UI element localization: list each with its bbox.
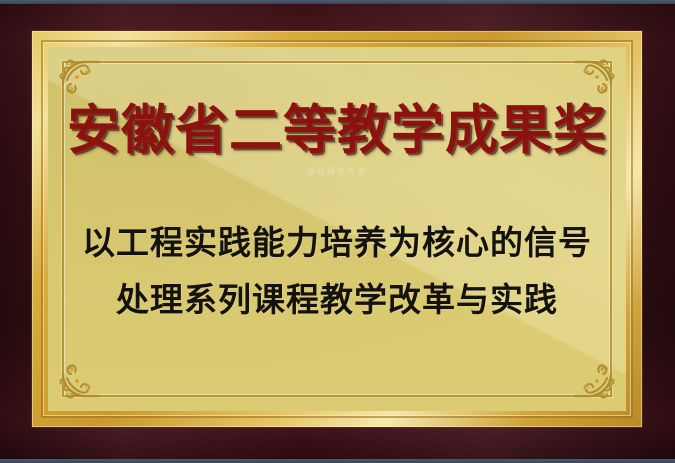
award-title: 安徽省二等教学成果奖 <box>67 103 607 158</box>
faint-watermark: 课程网络资源 <box>307 166 367 177</box>
plaque-outer-frame: 安徽省二等教学成果奖 课程网络资源 以工程实践能力培养为核心的信号 处理系列课程… <box>0 3 675 460</box>
project-subtitle-line-1: 以工程实践能力培养为核心的信号 <box>82 215 592 272</box>
project-subtitle-line-2: 处理系列课程教学改革与实践 <box>82 272 592 329</box>
bottom-edge-line <box>0 459 675 463</box>
plaque-face: 安徽省二等教学成果奖 课程网络资源 以工程实践能力培养为核心的信号 处理系列课程… <box>48 47 626 411</box>
top-edge-line <box>0 0 675 4</box>
project-subtitle: 以工程实践能力培养为核心的信号 处理系列课程教学改革与实践 <box>82 215 592 329</box>
award-plaque-image: 安徽省二等教学成果奖 课程网络资源 以工程实践能力培养为核心的信号 处理系列课程… <box>0 0 675 463</box>
plaque-text-block: 安徽省二等教学成果奖 课程网络资源 以工程实践能力培养为核心的信号 处理系列课程… <box>48 47 626 411</box>
